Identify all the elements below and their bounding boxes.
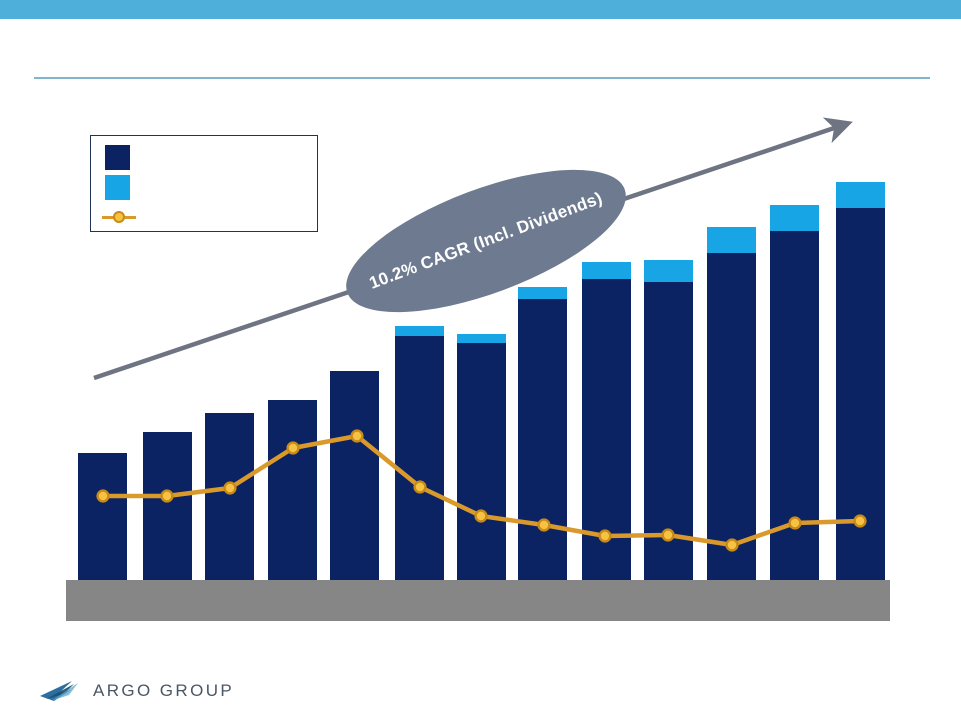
bar-column <box>836 182 885 580</box>
argo-group-logo: ARGO GROUP <box>38 674 234 708</box>
argo-wing-icon <box>38 677 84 705</box>
bar-segment-book-value <box>582 279 631 580</box>
bar-segment-book-value <box>770 231 819 580</box>
bar-segment-book-value <box>836 208 885 580</box>
bar-segment-dividends <box>457 334 506 343</box>
bar-segment-book-value <box>457 343 506 580</box>
bar-column <box>457 334 506 580</box>
bar-segment-book-value <box>707 253 756 580</box>
bar-column <box>330 371 379 580</box>
argo-group-logo-text: ARGO GROUP <box>93 681 234 701</box>
bar-segment-book-value <box>395 336 444 580</box>
bar-column <box>644 260 693 580</box>
bar-column <box>518 287 567 580</box>
bar-segment-dividends <box>836 182 885 208</box>
bar-segment-book-value <box>330 371 379 580</box>
bar-segment-dividends <box>770 205 819 231</box>
bar-segment-dividends <box>518 287 567 299</box>
chart-baseline-band <box>66 580 890 621</box>
bar-column <box>78 453 127 580</box>
legend-item-line-series[interactable] <box>102 204 146 230</box>
bar-column <box>395 326 444 580</box>
bar-segment-book-value <box>644 282 693 580</box>
slide-canvas: 10.2% CAGR (Incl. Dividends) <box>0 0 961 722</box>
bar-segment-book-value <box>143 432 192 580</box>
bar-column <box>707 227 756 580</box>
slide-footer: ARGO GROUP <box>0 660 961 722</box>
bar-segment-dividends <box>707 227 756 253</box>
bar-column <box>582 262 631 580</box>
legend-item-book-value[interactable] <box>105 144 140 170</box>
bar-segment-dividends <box>582 262 631 279</box>
bar-column <box>770 205 819 580</box>
bar-segment-book-value <box>518 299 567 580</box>
bar-segment-book-value <box>205 413 254 580</box>
legend-swatch-navy <box>105 145 130 170</box>
bar-segment-dividends <box>644 260 693 282</box>
bar-column <box>205 413 254 580</box>
chart-legend <box>90 135 318 232</box>
bar-segment-book-value <box>78 453 127 580</box>
chart-container: 10.2% CAGR (Incl. Dividends) <box>0 0 961 660</box>
legend-swatch-line-marker <box>102 211 136 223</box>
bar-column <box>268 400 317 580</box>
bar-column <box>143 432 192 580</box>
bar-segment-book-value <box>268 400 317 580</box>
legend-item-dividends[interactable] <box>105 174 140 200</box>
legend-swatch-lightblue <box>105 175 130 200</box>
